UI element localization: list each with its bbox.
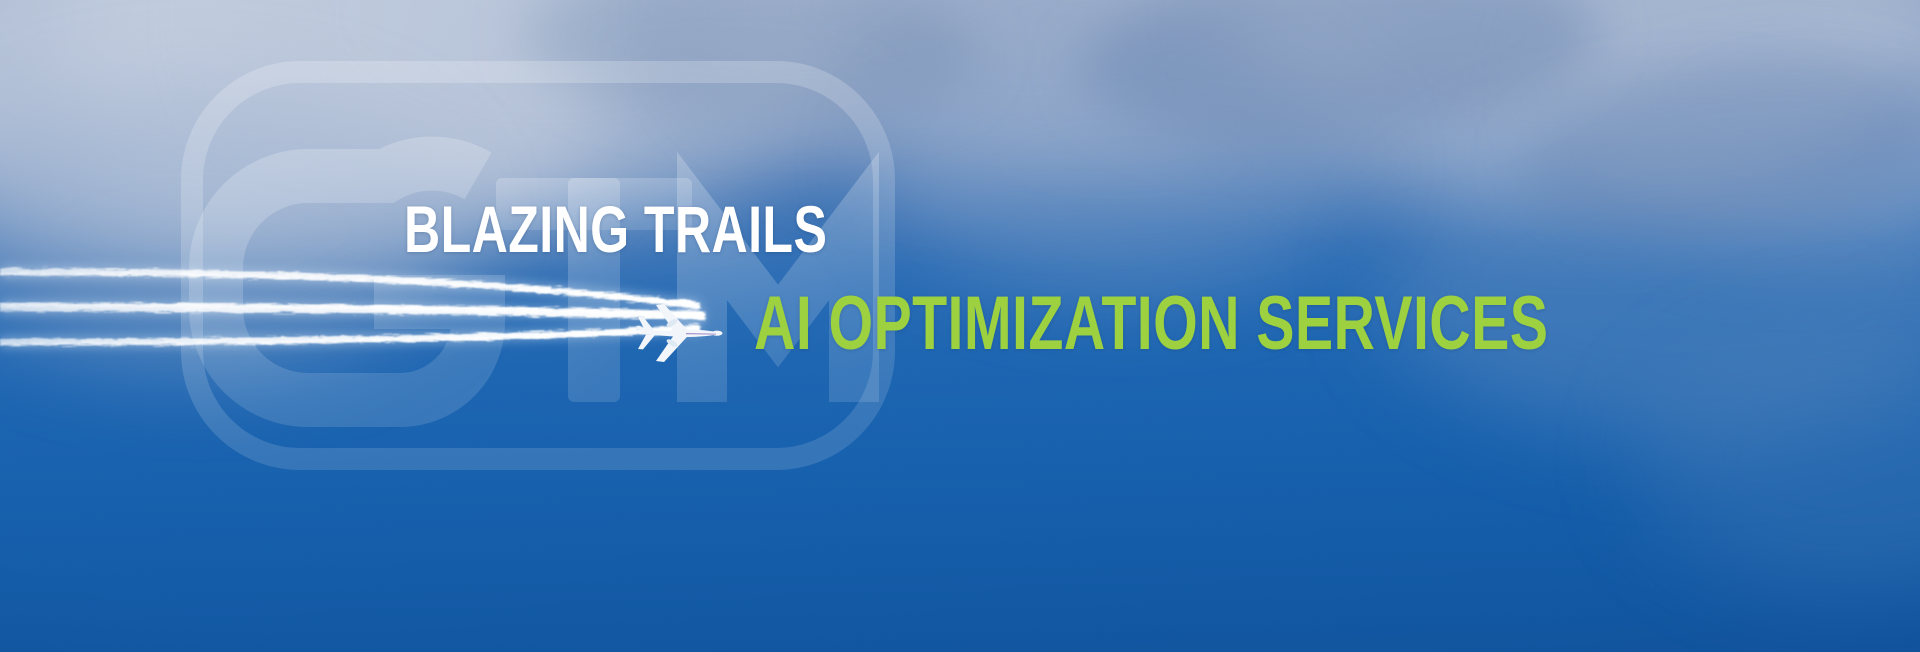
hero-banner: BLAZING TRAILS AI OPTIMIZATION SERVICES — [0, 0, 1920, 652]
headline-secondary: AI OPTIMIZATION SERVICES — [754, 286, 1548, 362]
headline-primary: BLAZING TRAILS — [404, 196, 827, 262]
